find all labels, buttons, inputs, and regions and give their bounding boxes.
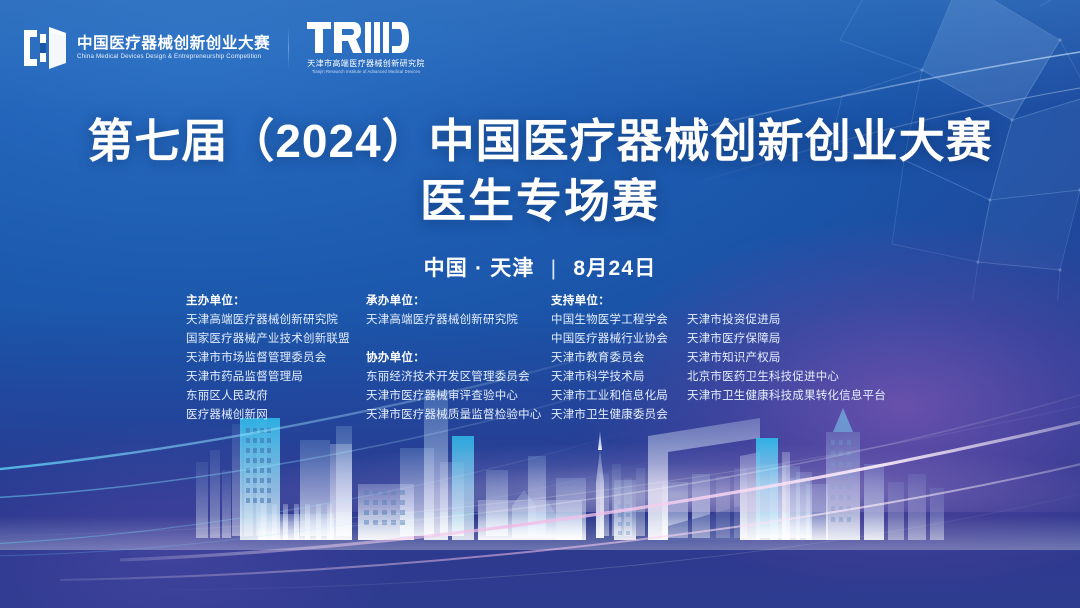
organizer-column-1: 主办单位： 天津高端医疗器械创新研究院 国家医疗器械产业技术创新联盟 天津市市场… — [186, 292, 366, 425]
organizer-group: 天津市投资促进局 天津市医疗保障局 天津市知识产权局 北京市医药卫生科技促进中心… — [687, 311, 897, 406]
page-title-line1: 第七届（2024）中国医疗器械创新创业大赛 — [0, 112, 1080, 172]
organizer-group: 协办单位： 东丽经济技术开发区管理委员会 天津市医疗器械审评查验中心 天津市医疗… — [366, 349, 551, 425]
organizer-item: 北京市医药卫生科技促进中心 — [687, 368, 897, 387]
organizer-heading: 主办单位： — [186, 292, 366, 311]
logo-bar: 中国医疗器械创新创业大赛 China Medical Devices Desig… — [22, 22, 425, 74]
organizer-item: 天津市卫生健康科技成果转化信息平台 — [687, 387, 897, 406]
organizer-item: 天津市知识产权局 — [687, 349, 897, 368]
trimd-wordmark-icon — [307, 22, 409, 56]
title-block: 第七届（2024）中国医疗器械创新创业大赛 医生专场赛 — [0, 112, 1080, 232]
trimd-logo: 天津市高端医疗器械创新研究院 Tianjin Research Institut… — [307, 22, 425, 74]
organizer-item: 天津高端医疗器械创新研究院 — [366, 311, 551, 330]
organizer-item: 天津市工业和信息化局 — [551, 387, 687, 406]
organizer-item: 天津市医疗器械质量监督检验中心 — [366, 406, 551, 425]
cmdc-logo-en: China Medical Devices Design & Entrepren… — [77, 54, 270, 61]
event-date: 8月24日 — [573, 257, 656, 280]
page-title-line2: 医生专场赛 — [0, 172, 1080, 232]
trimd-logo-cn: 天津市高端医疗器械创新研究院 — [307, 60, 425, 68]
date-separator: | — [551, 257, 558, 281]
cmdc-logo-cn: 中国医疗器械创新创业大赛 — [77, 36, 270, 52]
organizer-item: 中国医疗器械行业协会 — [551, 330, 687, 349]
organizer-item: 天津市医疗保障局 — [687, 330, 897, 349]
cmdc-logo: 中国医疗器械创新创业大赛 China Medical Devices Desig… — [22, 26, 270, 70]
organizer-item: 医疗器械创新网 — [186, 406, 366, 425]
organizer-group: 主办单位： 天津高端医疗器械创新研究院 国家医疗器械产业技术创新联盟 天津市市场… — [186, 292, 366, 425]
organizer-heading: 支持单位： — [551, 292, 687, 311]
organizer-item: 天津市药品监督管理局 — [186, 368, 366, 387]
logo-divider — [288, 27, 289, 69]
organizer-group: 支持单位： 中国生物医学工程学会 中国医疗器械行业协会 天津市教育委员会 天津市… — [551, 292, 687, 425]
event-location: 中国 · 天津 — [424, 257, 535, 280]
organizer-item: 天津市投资促进局 — [687, 311, 897, 330]
trimd-logo-en: Tianjin Research Institute of Advanced M… — [307, 70, 425, 74]
organizer-item: 天津市医疗器械审评查验中心 — [366, 387, 551, 406]
event-poster: 中国医疗器械创新创业大赛 China Medical Devices Desig… — [0, 0, 1080, 608]
organizer-column-3: 支持单位： 中国生物医学工程学会 中国医疗器械行业协会 天津市教育委员会 天津市… — [551, 292, 687, 425]
organizer-item: 天津市市场监督管理委员会 — [186, 349, 366, 368]
organizer-columns: 主办单位： 天津高端医疗器械创新研究院 国家医疗器械产业技术创新联盟 天津市市场… — [186, 292, 897, 425]
organizer-item: 天津高端医疗器械创新研究院 — [186, 311, 366, 330]
organizer-heading: 承办单位： — [366, 292, 551, 311]
open-door-icon — [22, 26, 68, 70]
organizer-item: 国家医疗器械产业技术创新联盟 — [186, 330, 366, 349]
event-date-line: 中国 · 天津 | 8月24日 — [0, 252, 1080, 282]
organizer-item: 中国生物医学工程学会 — [551, 311, 687, 330]
organizer-item: 东丽经济技术开发区管理委员会 — [366, 368, 551, 387]
organizer-group: 承办单位： 天津高端医疗器械创新研究院 — [366, 292, 551, 330]
organizer-item: 东丽区人民政府 — [186, 387, 366, 406]
organizer-item: 天津市科学技术局 — [551, 368, 687, 387]
organizer-item: 天津市教育委员会 — [551, 349, 687, 368]
organizer-heading: 协办单位： — [366, 349, 551, 368]
organizer-column-4: 天津市投资促进局 天津市医疗保障局 天津市知识产权局 北京市医药卫生科技促进中心… — [687, 292, 897, 406]
organizer-column-2: 承办单位： 天津高端医疗器械创新研究院 协办单位： 东丽经济技术开发区管理委员会… — [366, 292, 551, 425]
organizer-item: 天津市卫生健康委员会 — [551, 406, 687, 425]
